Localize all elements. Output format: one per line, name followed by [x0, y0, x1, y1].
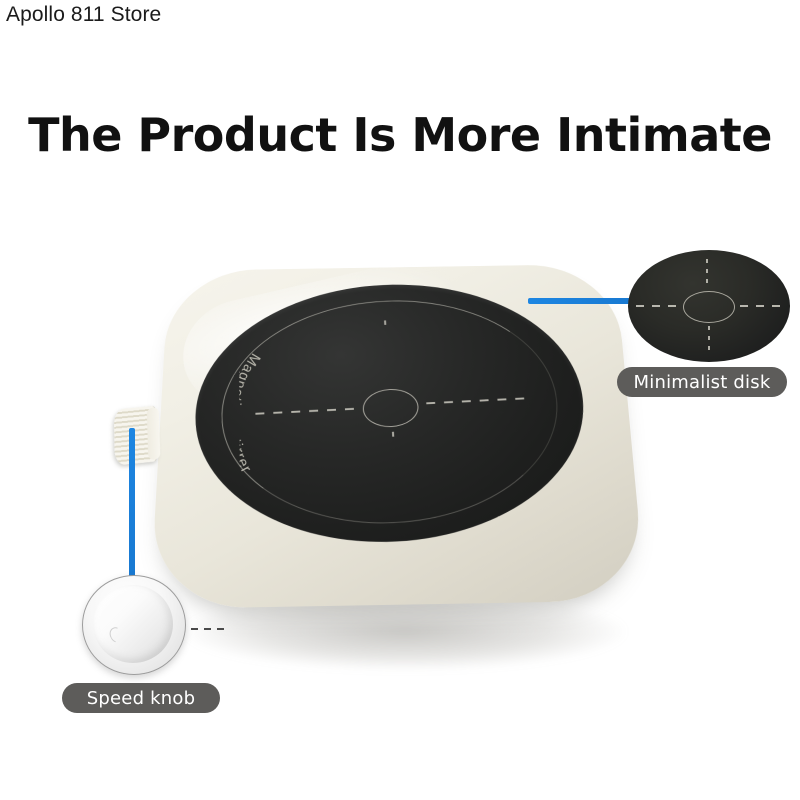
inset-crosshair-bottom [708, 326, 710, 356]
speed-knob-on-device[interactable] [114, 405, 159, 465]
connector-line-minimalist-disk [528, 298, 640, 304]
magnetic-stirrer-device: Magnetic stirrer [160, 252, 630, 652]
magnified-disk-inset [628, 250, 790, 362]
knob-cap [147, 407, 161, 460]
knob-face [93, 585, 173, 663]
callout-label-minimalist-disk: Minimalist disk [617, 367, 787, 397]
callout-label-speed-knob: Speed knob [62, 683, 220, 713]
inset-crosshair-left [636, 305, 678, 307]
device-body-top: Magnetic stirrer [150, 264, 647, 609]
inset-crosshair-top [706, 259, 708, 287]
product-promo-image: Apollo 811 Store The Product Is More Int… [0, 0, 800, 800]
inset-center-ring [683, 291, 735, 323]
knob-notch [107, 625, 126, 645]
connector-line-speed-knob [129, 428, 135, 590]
product-stage: Magnetic stirrer [0, 0, 800, 800]
stirrer-top-plate: Magnetic stirrer [194, 276, 598, 552]
magnified-knob-inset [82, 575, 186, 675]
inset-crosshair-right [740, 305, 784, 307]
